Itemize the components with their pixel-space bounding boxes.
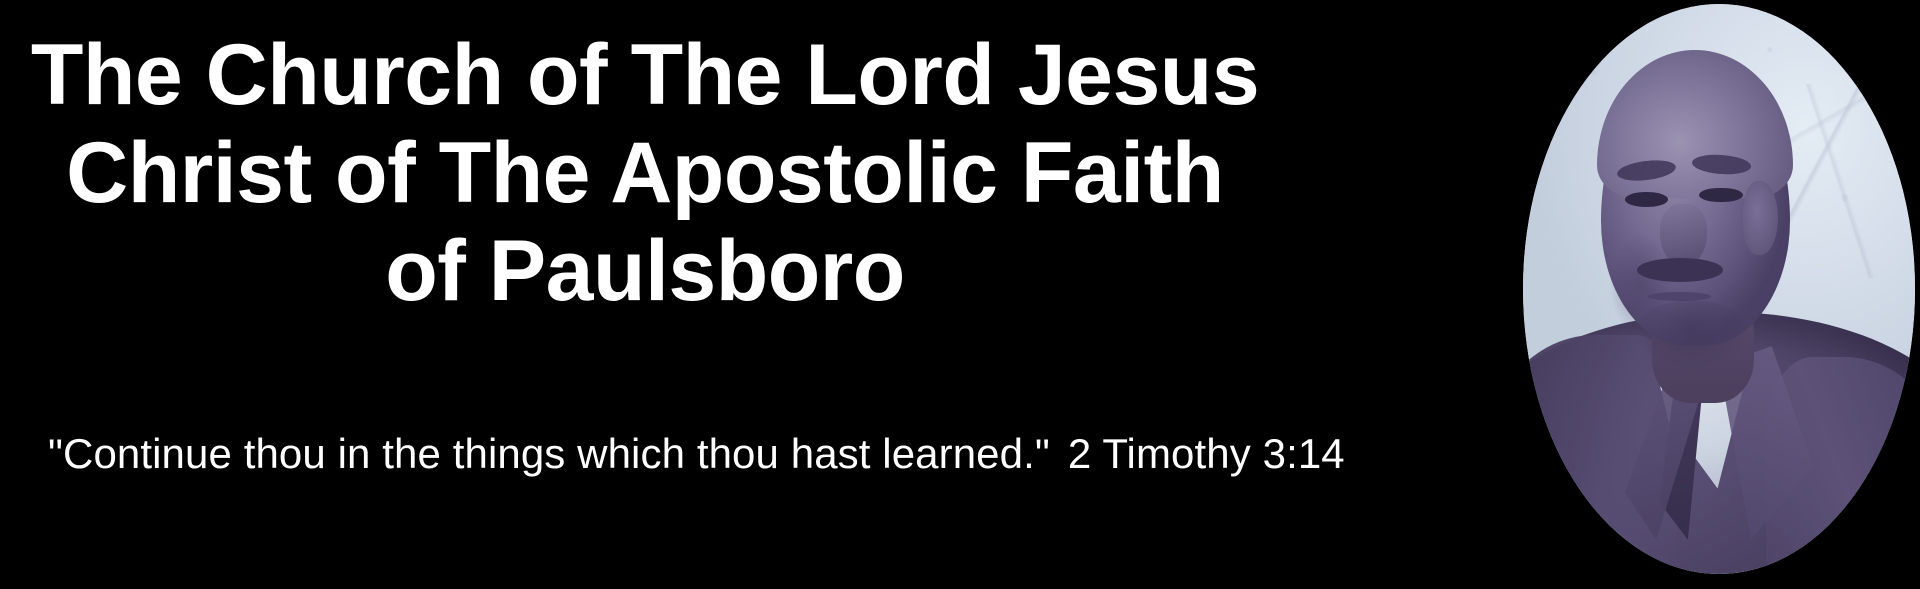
church-name-line-3: of Paulsboro	[0, 222, 1290, 320]
portrait-eye-left	[1625, 192, 1668, 207]
portrait-mustache	[1637, 258, 1723, 282]
portrait-eye-right	[1699, 188, 1742, 203]
portrait-ear	[1743, 181, 1778, 255]
banner-text-block: The Church of The Lord Jesus Christ of T…	[0, 0, 1290, 589]
church-name-line-1: The Church of The Lord Jesus	[0, 26, 1290, 124]
scripture-quote-text: "Continue thou in the things which thou …	[48, 430, 1050, 477]
portrait-jaw-shadow	[1633, 300, 1751, 368]
church-banner: The Church of The Lord Jesus Christ of T…	[0, 0, 1920, 589]
church-name-heading: The Church of The Lord Jesus Christ of T…	[0, 26, 1290, 320]
portrait-photo	[1523, 4, 1915, 574]
scripture-quote: "Continue thou in the things which thou …	[48, 428, 1248, 480]
portrait-figure	[1523, 4, 1915, 574]
scripture-reference: 2 Timothy 3:14	[1068, 430, 1345, 477]
church-name-line-2: Christ of The Apostolic Faith	[0, 124, 1290, 222]
founder-portrait	[1523, 4, 1915, 574]
